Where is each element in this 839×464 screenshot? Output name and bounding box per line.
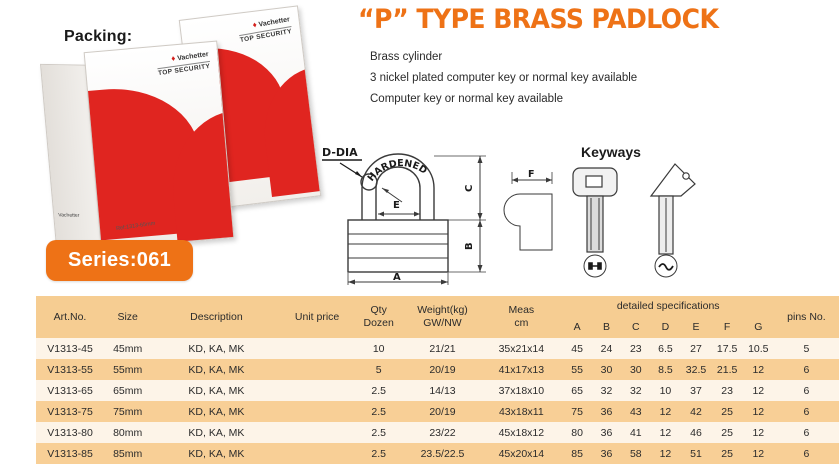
table-body: V1313-4545mmKD, KA, MK1021/2135x21x14452… xyxy=(36,338,839,464)
col-header-unit-price: Unit price xyxy=(282,296,353,338)
padlock-diagram: HARDENED D-DIA E xyxy=(320,130,530,285)
cell-a: 65 xyxy=(562,380,591,401)
cell-size: 75mm xyxy=(104,401,151,422)
cell-f: 25 xyxy=(712,443,743,464)
cell-e: 42 xyxy=(680,401,711,422)
series-badge: Series:061 xyxy=(46,240,193,281)
cell-pins: 5 xyxy=(774,338,839,359)
cell-weight: 23/22 xyxy=(405,422,480,443)
package-brand-back: ♦ Vachetter TOP SECURITY xyxy=(237,14,293,45)
cell-e: 27 xyxy=(680,338,711,359)
feature-list: Brass cylinder 3 nickel plated computer … xyxy=(370,47,810,110)
table-row: V1313-8585mmKD, KA, MK2.523.5/22.545x20x… xyxy=(36,443,839,464)
cell-g: 12 xyxy=(743,380,774,401)
cell-weight: 20/19 xyxy=(405,359,480,380)
feature-item: Brass cylinder xyxy=(370,47,810,68)
cell-meas: 45x18x12 xyxy=(480,422,562,443)
feature-item: Computer key or normal key available xyxy=(370,89,810,110)
cell-qty: 2.5 xyxy=(353,443,405,464)
package-side-brand: Vachetter xyxy=(58,212,80,218)
cell-unit-price xyxy=(282,359,353,380)
cell-d: 10 xyxy=(650,380,680,401)
cell-g: 12 xyxy=(743,443,774,464)
cell-pins: 6 xyxy=(774,401,839,422)
cell-size: 55mm xyxy=(104,359,151,380)
cell-qty: 2.5 xyxy=(353,380,405,401)
col-header-weight-line1: Weight(kg) xyxy=(405,304,480,317)
cell-art-no: V1313-55 xyxy=(36,359,104,380)
cell-a: 45 xyxy=(562,338,591,359)
cell-description: KD, KA, MK xyxy=(151,401,281,422)
cell-pins: 6 xyxy=(774,422,839,443)
cell-art-no: V1313-45 xyxy=(36,338,104,359)
cell-b: 36 xyxy=(592,401,621,422)
col-header-art-no: Art.No. xyxy=(36,296,104,338)
cell-c: 32 xyxy=(621,380,650,401)
brand-mark-icon: ♦ xyxy=(171,54,176,63)
cell-description: KD, KA, MK xyxy=(151,443,281,464)
cell-d: 12 xyxy=(650,401,680,422)
page-title: “P” TYPE BRASS PADLOCK xyxy=(358,4,718,35)
cell-description: KD, KA, MK xyxy=(151,380,281,401)
cell-b: 24 xyxy=(592,338,621,359)
col-header-qty-line2: Dozen xyxy=(353,317,405,330)
cell-e: 37 xyxy=(680,380,711,401)
specifications-table: Art.No. Size Description Unit price Qty … xyxy=(36,296,839,464)
cell-d: 12 xyxy=(650,422,680,443)
cell-meas: 43x18x11 xyxy=(480,401,562,422)
cell-size: 65mm xyxy=(104,380,151,401)
cell-meas: 45x20x14 xyxy=(480,443,562,464)
cell-a: 85 xyxy=(562,443,591,464)
brand-tagline: TOP SECURITY xyxy=(239,26,293,45)
cell-unit-price xyxy=(282,422,353,443)
table-row: V1313-6565mmKD, KA, MK2.514/1337x18x1065… xyxy=(36,380,839,401)
keyways-section: Keyways xyxy=(555,140,725,285)
cell-c: 23 xyxy=(621,338,650,359)
col-header-meas-line1: Meas xyxy=(480,304,562,317)
cell-art-no: V1313-75 xyxy=(36,401,104,422)
brand-tagline: TOP SECURITY xyxy=(158,61,212,78)
col-header-weight: Weight(kg) GW/NW xyxy=(405,296,480,338)
col-header-a: A xyxy=(562,317,591,338)
cell-a: 75 xyxy=(562,401,591,422)
table-row: V1313-8080mmKD, KA, MK2.523/2245x18x1280… xyxy=(36,422,839,443)
cell-pins: 6 xyxy=(774,443,839,464)
cell-art-no: V1313-80 xyxy=(36,422,104,443)
cell-c: 58 xyxy=(621,443,650,464)
cell-meas: 35x21x14 xyxy=(480,338,562,359)
cell-f: 25 xyxy=(712,401,743,422)
package-brand-front: ♦ Vachetter TOP SECURITY xyxy=(156,49,211,78)
cell-c: 30 xyxy=(621,359,650,380)
col-header-meas-line2: cm xyxy=(480,317,562,330)
table-header-row: Art.No. Size Description Unit price Qty … xyxy=(36,296,839,317)
cell-meas: 41x17x13 xyxy=(480,359,562,380)
cell-g: 12 xyxy=(743,401,774,422)
brand-mark-icon: ♦ xyxy=(252,20,258,30)
cell-weight: 14/13 xyxy=(405,380,480,401)
cell-qty: 2.5 xyxy=(353,422,405,443)
cell-g: 10.5 xyxy=(743,338,774,359)
table-row: V1313-7575mmKD, KA, MK2.520/1943x18x1175… xyxy=(36,401,839,422)
cell-weight: 23.5/22.5 xyxy=(405,443,480,464)
cell-size: 85mm xyxy=(104,443,151,464)
svg-text:D-DIA: D-DIA xyxy=(322,146,358,159)
cell-b: 30 xyxy=(592,359,621,380)
cell-g: 12 xyxy=(743,422,774,443)
col-header-g: G xyxy=(743,317,774,338)
col-header-f: F xyxy=(712,317,743,338)
svg-text:F: F xyxy=(528,169,535,180)
cell-c: 41 xyxy=(621,422,650,443)
cell-f: 21.5 xyxy=(712,359,743,380)
cell-d: 8.5 xyxy=(650,359,680,380)
cell-f: 23 xyxy=(712,380,743,401)
cell-qty: 2.5 xyxy=(353,401,405,422)
cell-e: 51 xyxy=(680,443,711,464)
cell-unit-price xyxy=(282,401,353,422)
cell-art-no: V1313-85 xyxy=(36,443,104,464)
cell-pins: 6 xyxy=(774,380,839,401)
cell-unit-price xyxy=(282,380,353,401)
table-row: V1313-4545mmKD, KA, MK1021/2135x21x14452… xyxy=(36,338,839,359)
cell-b: 36 xyxy=(592,443,621,464)
computer-key-icon xyxy=(573,168,617,252)
cell-b: 36 xyxy=(592,422,621,443)
cell-unit-price xyxy=(282,443,353,464)
cell-weight: 21/21 xyxy=(405,338,480,359)
cell-f: 25 xyxy=(712,422,743,443)
cell-d: 6.5 xyxy=(650,338,680,359)
cell-e: 46 xyxy=(680,422,711,443)
table-row: V1313-5555mmKD, KA, MK520/1941x17x135530… xyxy=(36,359,839,380)
col-header-description: Description xyxy=(151,296,281,338)
cell-description: KD, KA, MK xyxy=(151,422,281,443)
cell-weight: 20/19 xyxy=(405,401,480,422)
feature-item: 3 nickel plated computer key or normal k… xyxy=(370,68,810,89)
svg-text:C: C xyxy=(464,185,475,192)
cell-art-no: V1313-65 xyxy=(36,380,104,401)
col-header-b: B xyxy=(592,317,621,338)
col-header-e: E xyxy=(680,317,711,338)
cell-f: 17.5 xyxy=(712,338,743,359)
cell-description: KD, KA, MK xyxy=(151,359,281,380)
col-header-qty: Qty Dozen xyxy=(353,296,405,338)
cell-description: KD, KA, MK xyxy=(151,338,281,359)
cell-a: 80 xyxy=(562,422,591,443)
cell-qty: 10 xyxy=(353,338,405,359)
packaging-illustration: Vachetter ♦ Vachetter TOP SECURITY ♦ Vac… xyxy=(40,8,330,258)
svg-text:E: E xyxy=(393,200,400,211)
col-header-size: Size xyxy=(104,296,151,338)
cell-meas: 37x18x10 xyxy=(480,380,562,401)
svg-text:A: A xyxy=(393,272,401,283)
col-header-d: D xyxy=(650,317,680,338)
keyways-title: Keyways xyxy=(581,144,641,160)
cell-b: 32 xyxy=(592,380,621,401)
cell-d: 12 xyxy=(650,443,680,464)
normal-key-icon xyxy=(651,164,695,254)
cell-e: 32.5 xyxy=(680,359,711,380)
cell-c: 43 xyxy=(621,401,650,422)
col-header-c: C xyxy=(621,317,650,338)
col-header-detailed-specs: detailed specifications xyxy=(562,296,773,317)
col-header-weight-line2: GW/NW xyxy=(405,317,480,330)
svg-text:B: B xyxy=(464,242,475,250)
col-header-qty-line1: Qty xyxy=(353,304,405,317)
cell-pins: 6 xyxy=(774,359,839,380)
cell-qty: 5 xyxy=(353,359,405,380)
cell-g: 12 xyxy=(743,359,774,380)
cell-size: 45mm xyxy=(104,338,151,359)
cell-a: 55 xyxy=(562,359,591,380)
col-header-meas: Meas cm xyxy=(480,296,562,338)
col-header-pins: pins No. xyxy=(774,296,839,338)
cell-size: 80mm xyxy=(104,422,151,443)
cell-unit-price xyxy=(282,338,353,359)
product-spec-sheet: Packing: Vachetter ♦ Vachetter TOP SECUR… xyxy=(0,0,839,456)
package-box-front: ♦ Vachetter TOP SECURITY Ref:1313-65mm xyxy=(84,41,235,250)
